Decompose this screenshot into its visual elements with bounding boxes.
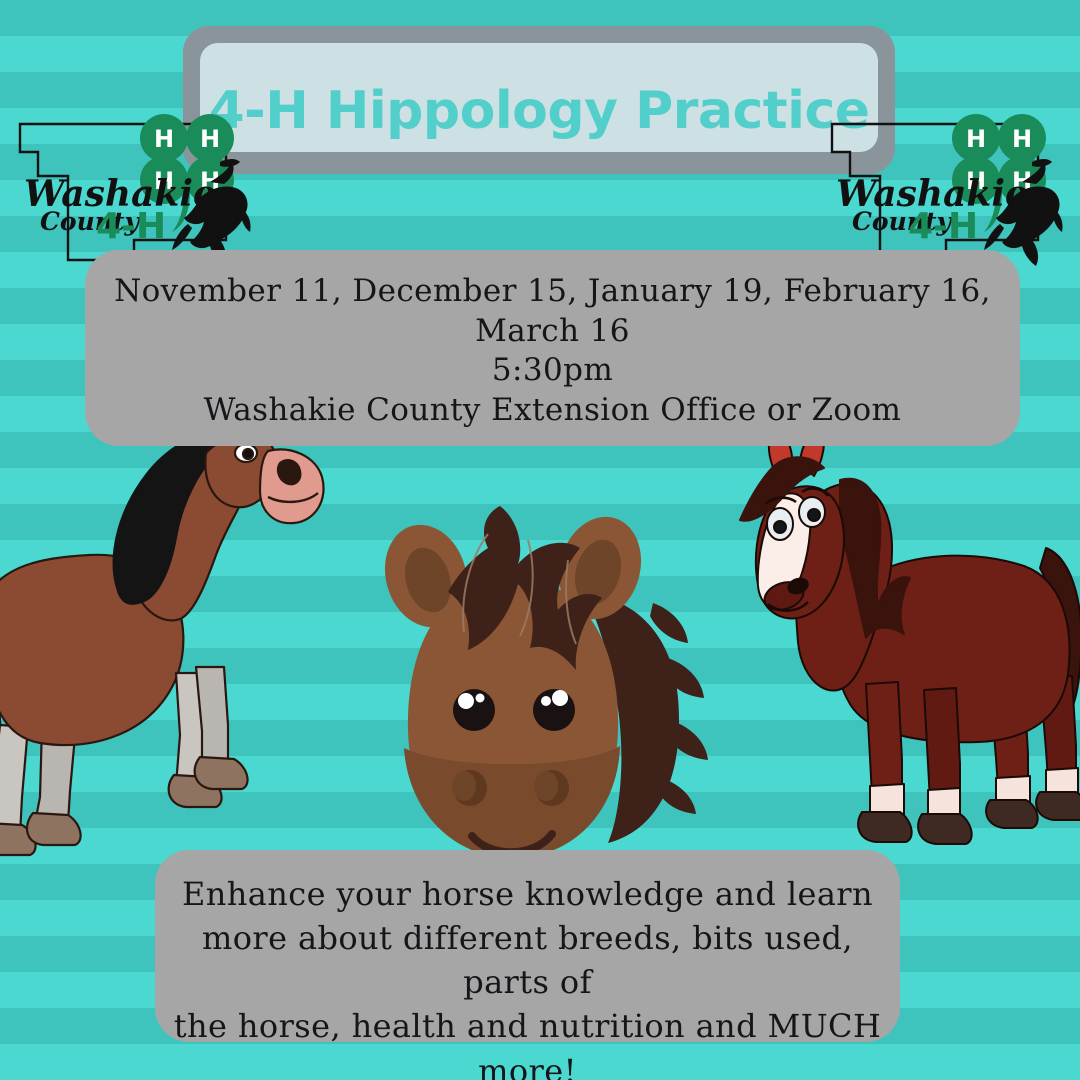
washakie-county-4h-logo-left: H H H H Washakie County 4-H bbox=[14, 112, 254, 272]
svg-text:H: H bbox=[1012, 125, 1032, 153]
washakie-county-4h-logo-right: H H H H Washakie County 4-H bbox=[826, 112, 1066, 272]
event-details-text: November 11, December 15, January 19, Fe… bbox=[85, 272, 1020, 431]
left-horse-illustration bbox=[0, 405, 350, 860]
page-title: 4-H Hippology Practice bbox=[183, 26, 895, 174]
svg-text:H: H bbox=[154, 125, 174, 153]
svg-text:H: H bbox=[200, 125, 220, 153]
right-horse-illustration bbox=[728, 428, 1080, 883]
description-text: Enhance your horse knowledge and learn m… bbox=[155, 872, 900, 1080]
logo-4h-left: 4-H bbox=[96, 206, 166, 247]
logo-4h-right: 4-H bbox=[908, 206, 978, 247]
center-horse-head-illustration bbox=[368, 498, 713, 893]
svg-text:H: H bbox=[966, 125, 986, 153]
poster-canvas: 4-H Hippology Practice H H H H bbox=[0, 0, 1080, 1080]
